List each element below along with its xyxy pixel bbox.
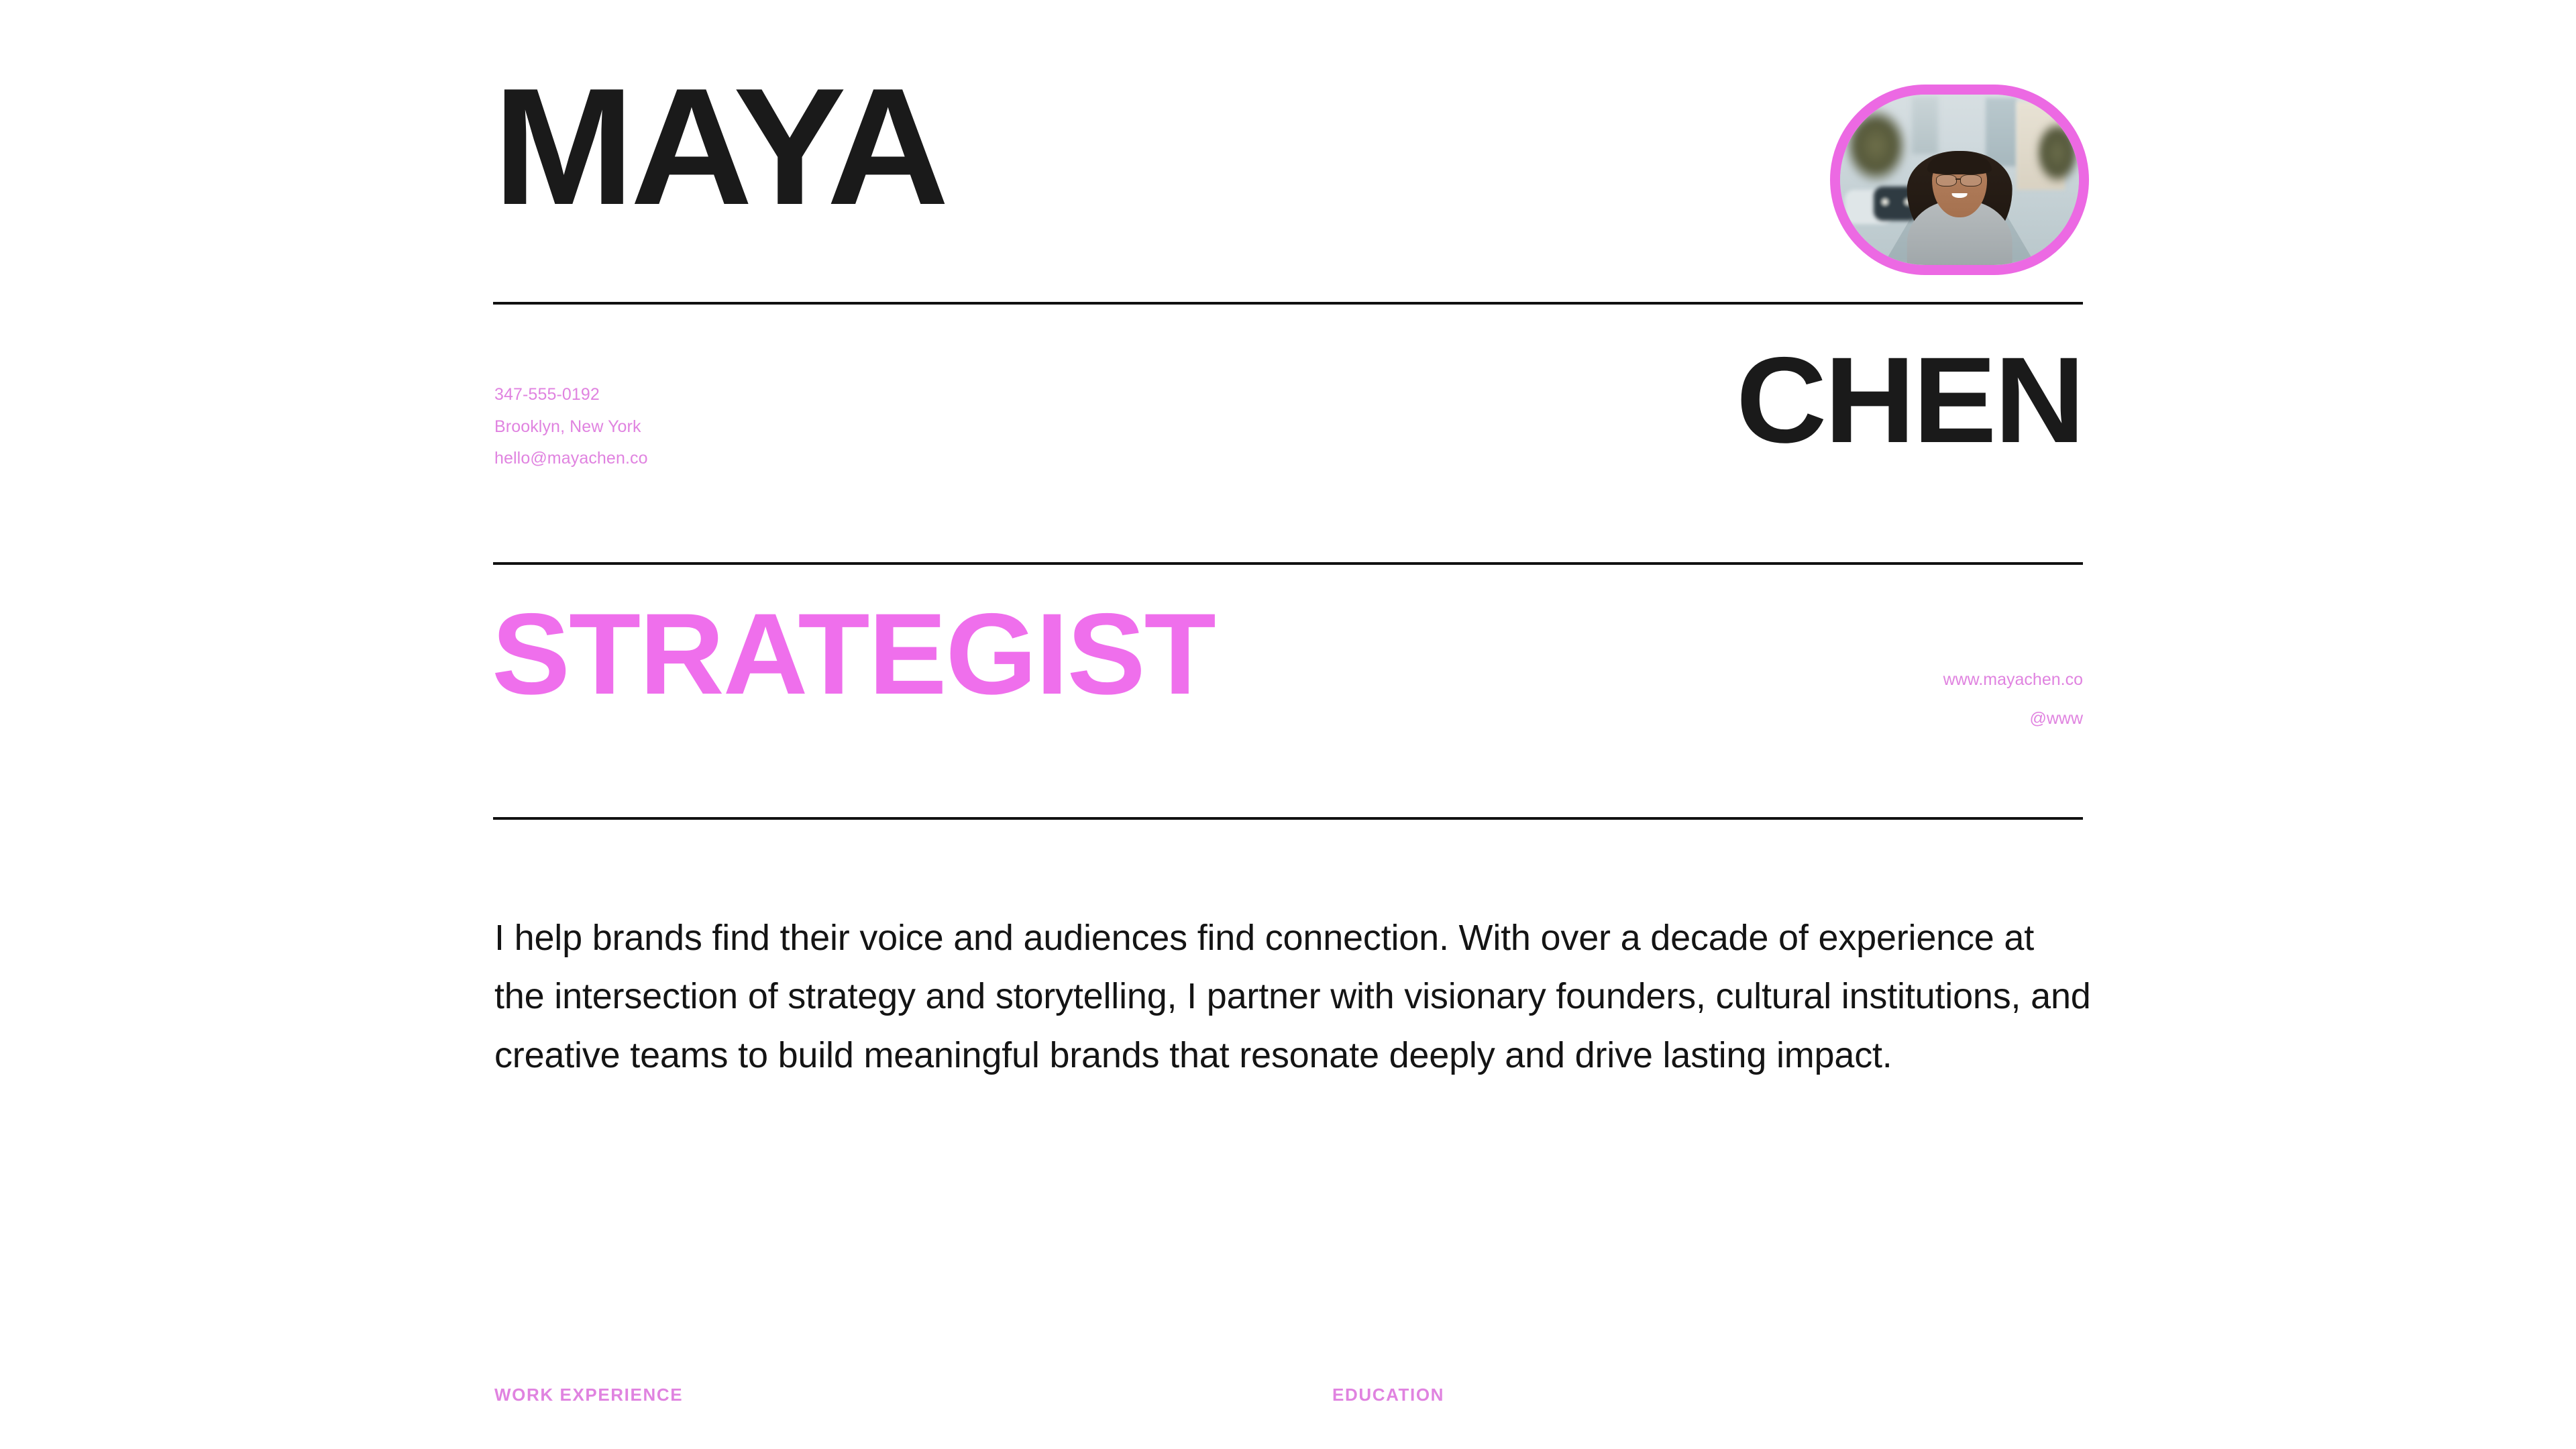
avatar <box>1830 85 2089 275</box>
section-label-education: EDUCATION <box>1332 1385 1444 1405</box>
photo-tree-left <box>1845 108 1907 183</box>
contact-email[interactable]: hello@mayachen.co <box>494 443 648 475</box>
link-handle[interactable]: @www <box>1943 700 2083 739</box>
photo-building-left <box>1912 97 1938 154</box>
section-label-work-experience: WORK EXPERIENCE <box>494 1385 683 1405</box>
glasses-icon <box>1936 174 1957 186</box>
divider-1 <box>493 302 2083 305</box>
divider-2 <box>493 562 2083 565</box>
page-title-last-name: CHEN <box>1736 347 2083 453</box>
photo-tree-right <box>2036 122 2079 183</box>
divider-3 <box>493 817 2083 820</box>
contact-location: Brooklyn, New York <box>494 411 648 443</box>
links-block: www.mayachen.co @www <box>1943 661 2083 738</box>
avatar-photo <box>1840 95 2079 265</box>
photo-building-mid <box>1986 98 2017 166</box>
link-website[interactable]: www.mayachen.co <box>1943 661 2083 700</box>
photo-headlight <box>1880 197 1890 207</box>
resume-page: MAYA 347-555-0 <box>0 0 2576 1449</box>
role-title: STRATEGIST <box>492 602 1215 706</box>
page-title-first-name: MAYA <box>493 75 945 218</box>
glasses-icon <box>1960 174 1981 186</box>
glasses-bridge <box>1955 178 1961 180</box>
contact-phone[interactable]: 347-555-0192 <box>494 379 648 411</box>
bio-paragraph: I help brands find their voice and audie… <box>494 909 2091 1085</box>
contact-block: 347-555-0192 Brooklyn, New York hello@ma… <box>494 379 648 475</box>
